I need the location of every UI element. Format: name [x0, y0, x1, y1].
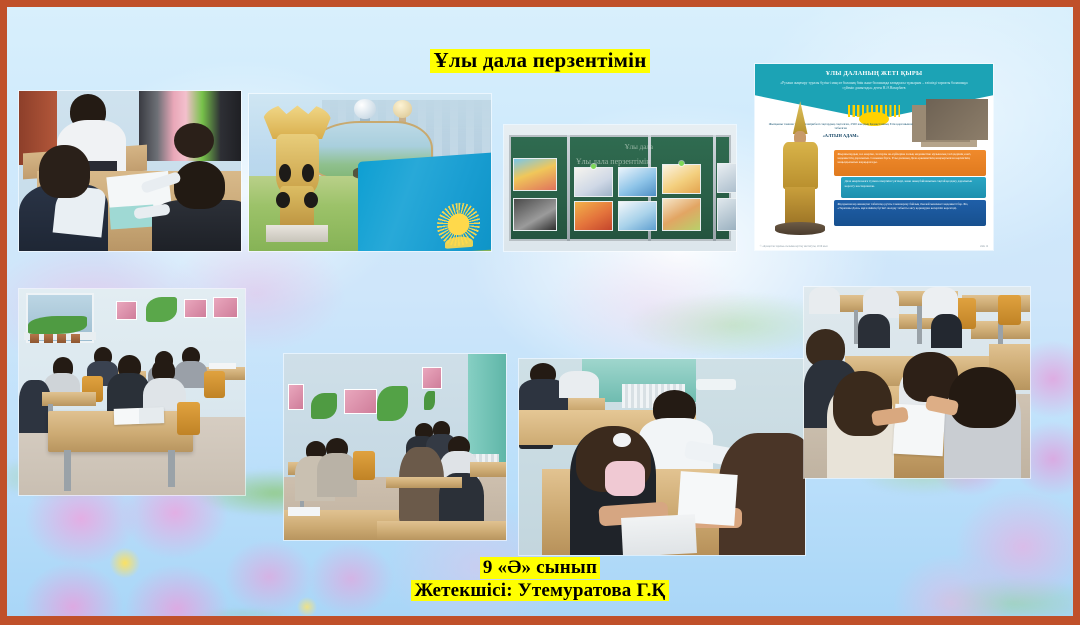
presentation-band-orange: Жыршылардың сөз өнеріне, толғаулы ән-күй… — [834, 150, 986, 176]
footer-teacher-text: Жетекшісі: Утемуратова Г.Қ — [411, 580, 668, 601]
foreground-desk — [377, 521, 506, 540]
shoe — [696, 379, 736, 391]
student-head — [39, 145, 90, 198]
presentation-subtitle: «Рухани жаңғыру туралы бүгінгі мақсат бо… — [776, 81, 971, 91]
footer-class-text: 9 «Ә» сынып — [480, 557, 600, 578]
desk-leg — [168, 450, 175, 487]
presentation-footer-right: slide 12 — [980, 245, 988, 248]
footer-line-teacher: Жетекшісі: Утемуратова Г.Қ — [7, 580, 1073, 601]
presentation-footer: © «Қазақстан тарихы» ғылыми-зерттеу инст… — [760, 245, 988, 248]
board-chalk-text: Ұлы дала — [625, 143, 653, 151]
pupil-drawing — [513, 158, 557, 191]
hair-tie — [613, 433, 630, 447]
statue-headdress — [793, 101, 808, 134]
student-collar — [605, 461, 645, 496]
book — [209, 363, 236, 369]
photo-presentation-slide: ҰЛЫ ДАЛАНЫҢ ЖЕТІ ҚЫРЫ «Рухани жаңғыру ту… — [755, 64, 993, 250]
wall-picture — [344, 389, 377, 413]
pupil-drawing — [662, 198, 701, 231]
chair — [177, 402, 200, 435]
artifact-photo-cluster — [926, 99, 988, 140]
slide-frame: Ұлы дала перзентімін — [0, 0, 1080, 625]
baiterek-sphere — [393, 100, 412, 117]
monument-detail — [304, 192, 318, 209]
statue-legs — [785, 187, 815, 226]
flower-pot — [71, 334, 80, 342]
pupil-drawing — [618, 167, 657, 197]
photo-kazakhstan-collage — [249, 94, 491, 251]
slide-canvas: Ұлы дала перзентімін — [7, 7, 1073, 616]
book — [288, 507, 319, 516]
chair — [204, 371, 224, 398]
student-hair — [833, 371, 892, 436]
presentation-band-blue: Жұлдызшалар жинақтап табиғатқа рухты там… — [834, 200, 986, 226]
pupil-drawing — [618, 201, 657, 231]
slide-footer: 9 «Ә» сынып Жетекшісі: Утемуратова Г.Қ — [7, 556, 1073, 602]
kazakh-flag — [358, 152, 491, 251]
pupil-drawing — [513, 198, 557, 231]
slide-title: Ұлы дала перзентімін — [7, 49, 1073, 73]
flower-pot — [44, 334, 53, 342]
student-body — [858, 314, 890, 348]
wall-picture — [184, 299, 207, 318]
pupil-drawing — [662, 164, 701, 194]
wall-picture — [213, 297, 238, 318]
wall-picture — [116, 301, 136, 320]
board-divider — [713, 135, 716, 241]
student-body — [931, 314, 963, 348]
pin — [591, 164, 596, 169]
slide-title-text: Ұлы дала перзентімін — [430, 49, 649, 73]
photo-desk-closeup — [519, 359, 805, 555]
desk-leg — [64, 450, 71, 491]
presentation-footer-left: © «Қазақстан тарихы» ғылыми-зерттеу инст… — [760, 245, 828, 248]
photo-classroom-wide — [19, 289, 245, 495]
desk-leg — [917, 306, 922, 344]
pin — [679, 161, 684, 166]
footer-line-class: 9 «Ә» сынып — [7, 557, 1073, 578]
chair — [998, 295, 1021, 326]
hanging-plant — [146, 297, 178, 322]
student-hair — [949, 367, 1017, 428]
hanging-plant — [424, 391, 435, 410]
photo-pupils-around-desk — [804, 287, 1030, 478]
board-chalk-text: Ұлы дала перзентімін — [576, 157, 651, 166]
photo-pupils-writing — [19, 91, 241, 251]
pupil-drawing — [717, 163, 736, 193]
open-book — [114, 408, 164, 426]
statue-armor — [783, 142, 818, 189]
presentation-band-teal: Дала өнерін көзге түскен ескерткіш үлгіл… — [841, 177, 986, 197]
wall-picture — [422, 367, 442, 389]
open-book — [621, 514, 697, 555]
desk — [386, 477, 461, 488]
golden-man-monument — [259, 103, 336, 241]
flower-pot — [57, 334, 66, 342]
golden-man-statue — [769, 101, 831, 239]
student-body — [559, 371, 599, 398]
monument-pedestal — [266, 225, 328, 242]
student-body — [809, 287, 841, 314]
student-head — [174, 161, 225, 209]
photo-group-work — [284, 354, 506, 540]
flower-pot — [30, 334, 39, 342]
student-body — [317, 453, 357, 498]
student-body — [863, 287, 899, 318]
student-body — [922, 287, 958, 318]
wall-picture — [288, 384, 304, 410]
pupil-drawing — [574, 201, 613, 231]
board-divider — [567, 135, 570, 241]
pupil-drawing — [574, 167, 613, 197]
sphere-tower-top — [354, 99, 376, 119]
monument-detail — [276, 192, 290, 209]
chair — [353, 451, 375, 481]
desk — [470, 462, 506, 477]
pupil-drawing — [717, 198, 736, 231]
statue-base — [775, 222, 825, 234]
photo-green-board-artwork: Ұлы дала Ұлы дала перзентімін — [504, 125, 736, 251]
